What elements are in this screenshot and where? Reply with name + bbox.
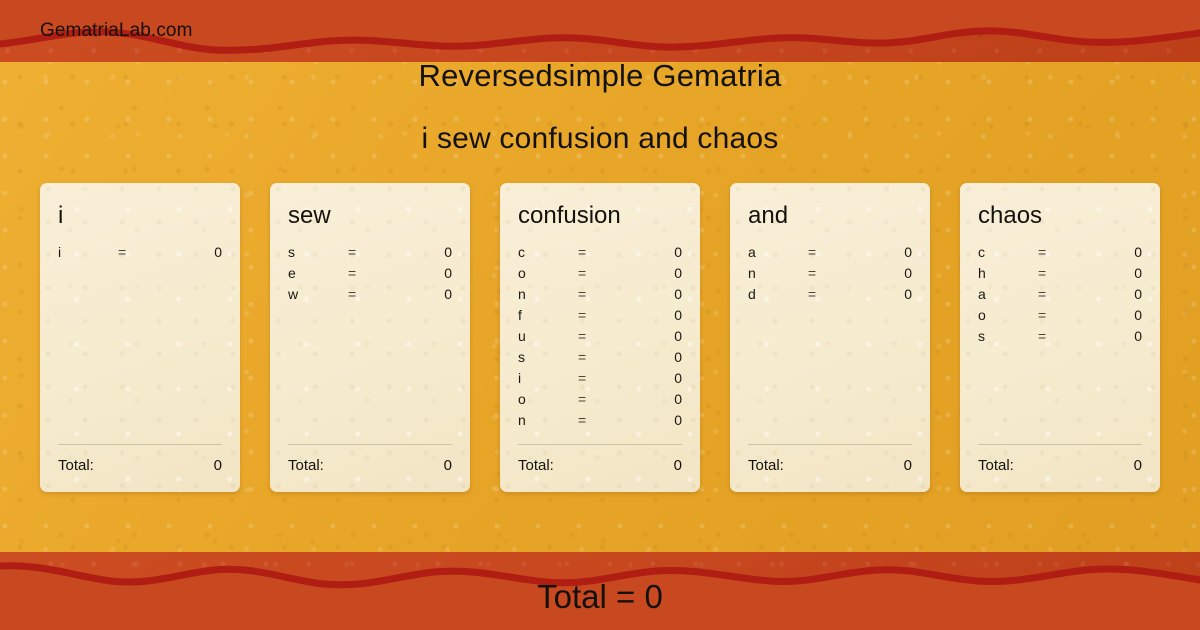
letter-value-row: a=0 — [748, 244, 912, 265]
card-total-row: Total:0 — [288, 445, 452, 492]
word-card: chaosc=0h=0a=0o=0s=0Total:0 — [960, 183, 1160, 492]
letter-value-row: d=0 — [748, 286, 912, 307]
letter-value-row: s=0 — [288, 244, 452, 265]
letter: a — [978, 286, 1038, 302]
equals-sign: = — [808, 286, 860, 302]
letter-value: 0 — [630, 370, 682, 386]
card-total-row: Total:0 — [518, 445, 682, 492]
letter-value: 0 — [400, 244, 452, 260]
letter-value: 0 — [630, 244, 682, 260]
letter: s — [978, 328, 1038, 344]
letter: i — [58, 244, 118, 260]
card-total-value: 0 — [214, 457, 222, 474]
letter: h — [978, 265, 1038, 281]
letter-value-row: c=0 — [518, 244, 682, 265]
letter: n — [518, 412, 578, 428]
letter-value: 0 — [630, 328, 682, 344]
letter-value-row: e=0 — [288, 265, 452, 286]
card-total-value: 0 — [444, 457, 452, 474]
letter: f — [518, 307, 578, 323]
page-title: Reversedsimple Gematria — [0, 58, 1200, 94]
equals-sign: = — [118, 244, 170, 260]
letter-value-row: s=0 — [518, 349, 682, 370]
letter-value-row: a=0 — [978, 286, 1142, 307]
equals-sign: = — [1038, 286, 1090, 302]
equals-sign: = — [578, 370, 630, 386]
equals-sign: = — [1038, 328, 1090, 344]
card-total-label: Total: — [288, 457, 444, 474]
letter-value: 0 — [630, 349, 682, 365]
letter-value-row: u=0 — [518, 328, 682, 349]
letter-value: 0 — [400, 265, 452, 281]
card-total-value: 0 — [674, 457, 682, 474]
card-total-row: Total:0 — [58, 445, 222, 492]
letter-value: 0 — [1090, 307, 1142, 323]
equals-sign: = — [348, 244, 400, 260]
letter-value-row: s=0 — [978, 328, 1142, 349]
letter-value: 0 — [1090, 328, 1142, 344]
word-card-title: chaos — [978, 203, 1142, 228]
card-total-row: Total:0 — [748, 445, 912, 492]
letter: e — [288, 265, 348, 281]
equals-sign: = — [578, 412, 630, 428]
equals-sign: = — [1038, 307, 1090, 323]
letter: s — [518, 349, 578, 365]
equals-sign: = — [578, 391, 630, 407]
card-total-label: Total: — [58, 457, 214, 474]
letter-value-list: a=0n=0d=0 — [748, 244, 912, 444]
letter: d — [748, 286, 808, 302]
letter-value-row: n=0 — [748, 265, 912, 286]
letter: i — [518, 370, 578, 386]
letter-value-row: n=0 — [518, 286, 682, 307]
card-total-label: Total: — [748, 457, 904, 474]
site-branding: GematriaLab.com — [40, 20, 193, 42]
equals-sign: = — [578, 307, 630, 323]
letter-value-row: i=0 — [518, 370, 682, 391]
card-total-value: 0 — [904, 457, 912, 474]
letter-value: 0 — [1090, 286, 1142, 302]
equals-sign: = — [808, 265, 860, 281]
letter-value: 0 — [1090, 244, 1142, 260]
letter-value: 0 — [860, 244, 912, 260]
letter-value-list: i=0 — [58, 244, 222, 444]
letter-value-row: w=0 — [288, 286, 452, 307]
equals-sign: = — [578, 244, 630, 260]
letter-value: 0 — [860, 265, 912, 281]
word-card-list: ii=0Total:0sews=0e=0w=0Total:0confusionc… — [40, 183, 1160, 492]
word-card-title: confusion — [518, 203, 682, 228]
letter-value: 0 — [400, 286, 452, 302]
word-card-title: i — [58, 203, 222, 228]
letter-value-list: c=0o=0n=0f=0u=0s=0i=0o=0n=0 — [518, 244, 682, 444]
equals-sign: = — [348, 265, 400, 281]
letter: o — [518, 391, 578, 407]
letter: w — [288, 286, 348, 302]
letter: a — [748, 244, 808, 260]
letter-value: 0 — [630, 412, 682, 428]
letter-value: 0 — [1090, 265, 1142, 281]
letter-value-row: h=0 — [978, 265, 1142, 286]
word-card: confusionc=0o=0n=0f=0u=0s=0i=0o=0n=0Tota… — [500, 183, 700, 492]
letter-value: 0 — [170, 244, 222, 260]
letter-value-row: f=0 — [518, 307, 682, 328]
word-card: sews=0e=0w=0Total:0 — [270, 183, 470, 492]
word-card: anda=0n=0d=0Total:0 — [730, 183, 930, 492]
letter-value-row: c=0 — [978, 244, 1142, 265]
equals-sign: = — [348, 286, 400, 302]
grand-total: Total = 0 — [0, 578, 1200, 616]
word-card: ii=0Total:0 — [40, 183, 240, 492]
word-card-title: sew — [288, 203, 452, 228]
equals-sign: = — [578, 265, 630, 281]
equals-sign: = — [578, 328, 630, 344]
card-total-value: 0 — [1134, 457, 1142, 474]
card-total-label: Total: — [518, 457, 674, 474]
letter-value-list: s=0e=0w=0 — [288, 244, 452, 444]
letter-value: 0 — [630, 286, 682, 302]
equals-sign: = — [578, 349, 630, 365]
letter-value-row: o=0 — [518, 391, 682, 412]
card-total-label: Total: — [978, 457, 1134, 474]
card-total-row: Total:0 — [978, 445, 1142, 492]
letter: o — [518, 265, 578, 281]
phrase-heading: i sew confusion and chaos — [0, 122, 1200, 156]
equals-sign: = — [1038, 265, 1090, 281]
letter-value: 0 — [860, 286, 912, 302]
letter: c — [978, 244, 1038, 260]
letter-value-row: o=0 — [518, 265, 682, 286]
letter: u — [518, 328, 578, 344]
letter: n — [748, 265, 808, 281]
letter-value: 0 — [630, 265, 682, 281]
letter-value: 0 — [630, 307, 682, 323]
letter: o — [978, 307, 1038, 323]
gematria-result-card: GematriaLab.com Reversedsimple Gematria … — [0, 0, 1200, 630]
letter-value: 0 — [630, 391, 682, 407]
letter: c — [518, 244, 578, 260]
word-card-title: and — [748, 203, 912, 228]
letter-value-list: c=0h=0a=0o=0s=0 — [978, 244, 1142, 444]
equals-sign: = — [1038, 244, 1090, 260]
letter-value-row: o=0 — [978, 307, 1142, 328]
letter: n — [518, 286, 578, 302]
letter-value-row: n=0 — [518, 412, 682, 433]
letter-value-row: i=0 — [58, 244, 222, 265]
equals-sign: = — [808, 244, 860, 260]
letter: s — [288, 244, 348, 260]
equals-sign: = — [578, 286, 630, 302]
